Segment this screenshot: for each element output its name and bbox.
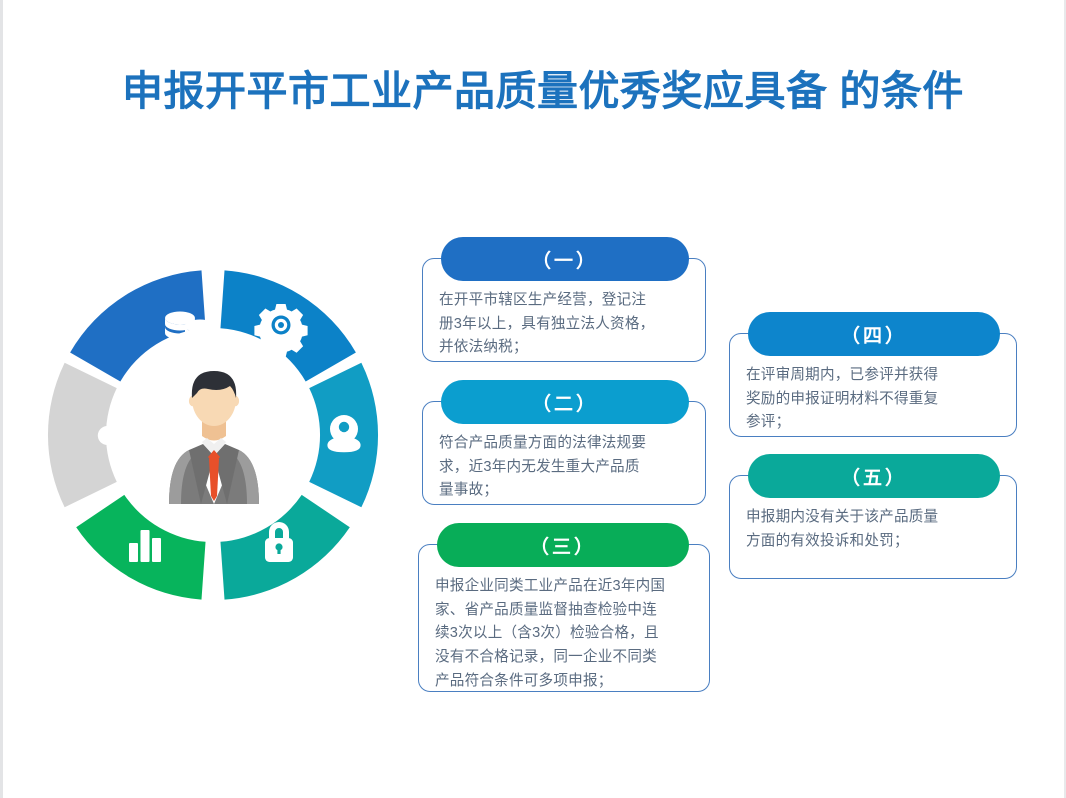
- condition-card-five-header: （五）: [748, 454, 1000, 498]
- businessman-avatar: [161, 356, 267, 504]
- condition-card-three[interactable]: （三） 申报企业同类工业产品在近3年内国 家、省产品质量监督抽查检验中连 续3次…: [418, 544, 710, 692]
- condition-card-two[interactable]: （二） 符合产品质量方面的法律法规要 求，近3年内无发生重大产品质 量事故；: [422, 401, 706, 505]
- condition-card-three-text: 申报企业同类工业产品在近3年内国 家、省产品质量监督抽查检验中连 续3次以上（含…: [419, 545, 709, 703]
- page-title: 申报开平市工业产品质量优秀奖应具备 的条件: [103, 62, 983, 120]
- condition-card-four-header: （四）: [748, 312, 1000, 356]
- condition-card-four[interactable]: （四） 在评审周期内，已参评并获得 奖励的申报证明材料不得重复 参评；: [729, 333, 1017, 437]
- condition-card-one[interactable]: （一） 在开平市辖区生产经营，登记注 册3年以上，具有独立法人资格， 并依法纳税…: [422, 258, 706, 362]
- coins-icon: [165, 312, 215, 357]
- condition-card-two-header: （二）: [441, 380, 689, 424]
- condition-card-five[interactable]: （五） 申报期内没有关于该产品质量 方面的有效投诉和处罚；: [729, 475, 1017, 579]
- condition-card-three-header: （三）: [437, 523, 689, 567]
- slide-canvas: 申报开平市工业产品质量优秀奖应具备 的条件: [0, 0, 1066, 798]
- gear-icon: [254, 304, 307, 357]
- condition-card-one-header: （一）: [441, 237, 689, 281]
- donut-infographic: [41, 268, 385, 602]
